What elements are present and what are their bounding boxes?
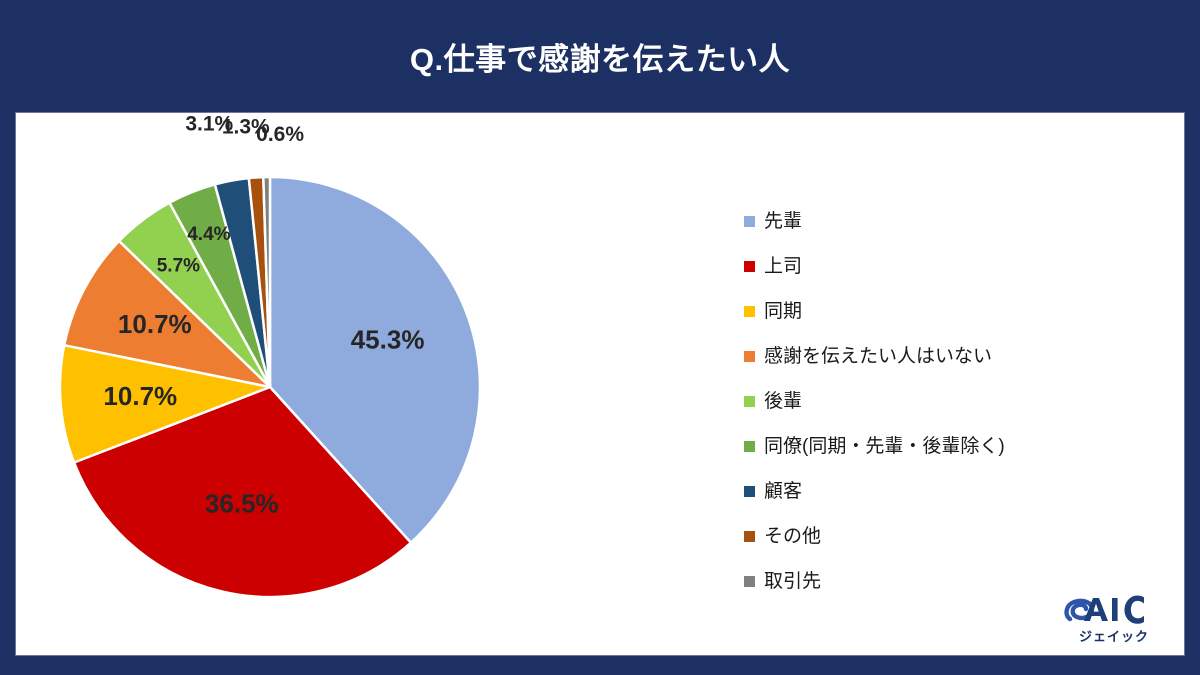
pie-slice-value-label: 5.7% [157, 256, 200, 277]
legend-item-label: 先輩 [764, 212, 802, 231]
brand-logo: ジェイック [1058, 587, 1170, 645]
pie-slice-value-label: 4.4% [187, 224, 230, 245]
legend-item[interactable]: 先輩 [744, 199, 1144, 244]
chart-card: 45.3%36.5%10.7%10.7%5.7%4.4%3.1%1.3%0.6%… [16, 113, 1184, 655]
jaic-logo-icon [1062, 593, 1166, 625]
legend-item-label: 後輩 [764, 392, 802, 411]
logo-kana: ジェイック [1079, 626, 1149, 645]
legend-swatch-icon [744, 441, 755, 452]
legend-swatch-icon [744, 306, 755, 317]
legend-item[interactable]: 上司 [744, 244, 1144, 289]
legend-item-label: 上司 [764, 257, 802, 276]
pie-slice-value-label: 0.6% [256, 123, 304, 146]
pie-slice-value-label: 45.3% [351, 325, 425, 355]
legend-item-label: その他 [764, 527, 821, 546]
pie-slice-value-label: 10.7% [118, 309, 192, 339]
legend-item-label: 取引先 [764, 572, 821, 591]
slide-root: Q.仕事で感謝を伝えたい人 45.3%36.5%10.7%10.7%5.7%4.… [0, 0, 1200, 675]
legend-item[interactable]: 後輩 [744, 379, 1144, 424]
legend-item-label: 同期 [764, 302, 802, 321]
legend-item-label: 顧客 [764, 482, 802, 501]
legend-item[interactable]: 顧客 [744, 469, 1144, 514]
legend-item[interactable]: 感謝を伝えたい人はいない [744, 334, 1144, 379]
pie-chart: 45.3%36.5%10.7%10.7%5.7%4.4%3.1%1.3%0.6% [16, 113, 736, 655]
legend-item[interactable]: その他 [744, 514, 1144, 559]
title-bar: Q.仕事で感謝を伝えたい人 [0, 0, 1200, 113]
page-title: Q.仕事で感謝を伝えたい人 [410, 34, 790, 79]
legend-swatch-icon [744, 216, 755, 227]
legend-item[interactable]: 同期 [744, 289, 1144, 334]
pie-chart-svg: 45.3%36.5%10.7%10.7%5.7%4.4%3.1%1.3%0.6% [16, 113, 736, 655]
legend-swatch-icon [744, 261, 755, 272]
legend-swatch-icon [744, 396, 755, 407]
chart-legend: 先輩上司同期感謝を伝えたい人はいない後輩同僚(同期・先輩・後輩除く)顧客その他取… [744, 199, 1144, 604]
legend-swatch-icon [744, 531, 755, 542]
legend-item-label: 同僚(同期・先輩・後輩除く) [764, 437, 1005, 456]
pie-slice-value-label: 36.5% [205, 488, 279, 518]
legend-swatch-icon [744, 351, 755, 362]
pie-slice-value-label: 10.7% [103, 381, 177, 411]
legend-swatch-icon [744, 576, 755, 587]
legend-item[interactable]: 同僚(同期・先輩・後輩除く) [744, 424, 1144, 469]
legend-item-label: 感謝を伝えたい人はいない [764, 347, 992, 366]
legend-swatch-icon [744, 486, 755, 497]
